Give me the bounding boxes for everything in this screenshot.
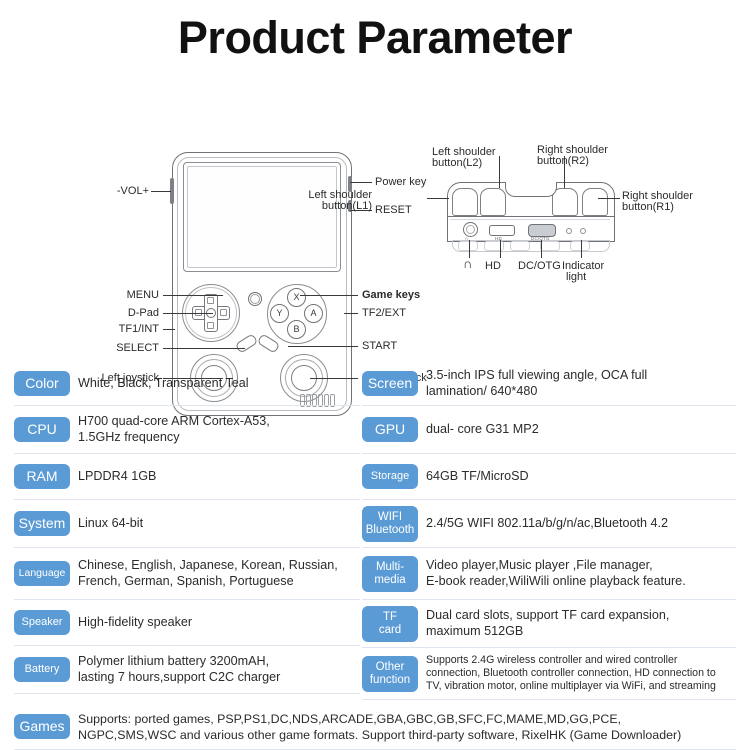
spec-label-badge: TFcard (362, 606, 418, 642)
spec-value: Supports 2.4G wireless controller and wi… (426, 654, 736, 694)
top-view-panel-line (450, 219, 610, 220)
shoulder-button-r1-shape (582, 188, 608, 216)
spec-row: BatteryPolymer lithium battery 3200mAH,l… (14, 646, 360, 694)
spec-row: Storage64GB TF/MicroSD (362, 454, 736, 500)
label-power-key: Power key (375, 176, 426, 189)
button-x: X (287, 288, 306, 307)
shoulder-button-l1-shape (452, 188, 478, 216)
spec-row: OtherfunctionSupports 2.4G wireless cont… (362, 648, 736, 700)
menu-button-inner (250, 294, 260, 304)
leader-game-keys (300, 295, 358, 296)
leader-hd (500, 240, 501, 258)
label-tf2-ext: TF2/EXT (362, 307, 406, 320)
leader-indicator (581, 240, 582, 258)
button-y: Y (270, 304, 289, 323)
label-indicator-light-line2: light (566, 271, 586, 284)
spec-label-badge: System (14, 511, 70, 536)
leader-l2 (499, 156, 500, 188)
leader-tf1 (163, 329, 175, 330)
spec-row: CPUH700 quad-core ARM Cortex-A53,1.5GHz … (14, 406, 360, 454)
spec-row: Multi-mediaVideo player,Music player ,Fi… (362, 548, 736, 600)
spec-row: ColorWhite, Black, Transparent Teal (14, 362, 360, 406)
product-parameter-page: Product Parameter X Y A B (0, 0, 750, 750)
spec-label-badge: WIFIBluetooth (362, 506, 418, 542)
spec-label-badge: Multi-media (362, 556, 418, 592)
label-menu: MENU (61, 289, 159, 302)
spec-label-badge: CPU (14, 417, 70, 442)
spec-row: GPUdual- core G31 MP2 (362, 406, 736, 454)
spec-row: TFcardDual card slots, support TF card e… (362, 600, 736, 648)
spec-value: Dual card slots, support TF card expansi… (426, 608, 736, 639)
leader-l1-top (427, 198, 449, 199)
spec-row: WIFIBluetooth2.4/5G WIFI 802.11a/b/g/n/a… (362, 500, 736, 548)
spec-value: Linux 64-bit (78, 516, 360, 532)
spec-label-badge: Otherfunction (362, 656, 418, 692)
leader-vol (151, 191, 171, 192)
leader-tf2 (344, 313, 358, 314)
spec-row-games: GamesSupports: ported games, PSP,PS1,DC,… (14, 704, 736, 750)
device-screen (187, 166, 337, 268)
label-vol: -VOL+ (51, 185, 149, 198)
spec-value: 64GB TF/MicroSD (426, 469, 736, 485)
product-diagram: X Y A B -VOL+ MENU D-Pad TF (0, 70, 750, 360)
button-a: A (304, 304, 323, 323)
leader-select (163, 348, 245, 349)
bottom-segment-3 (510, 241, 530, 251)
page-title: Product Parameter (0, 12, 750, 64)
spec-row: RAMLPDDR4 1GB (14, 454, 360, 500)
dpad-icon (192, 294, 228, 330)
label-left-shoulder-l2-line2: button(L2) (432, 157, 482, 170)
spec-value: H700 quad-core ARM Cortex-A53,1.5GHz fre… (78, 414, 360, 445)
label-dpad: D-Pad (61, 307, 159, 320)
spec-row: SystemLinux 64-bit (14, 500, 360, 548)
spec-value: Polymer lithium battery 3200mAH,lasting … (78, 654, 360, 685)
shoulder-button-l2-shape (480, 188, 506, 216)
label-port-hd: HD (485, 260, 501, 273)
spec-value: 3.5-inch IPS full viewing angle, OCA ful… (426, 368, 736, 399)
label-right-shoulder-r1-line2: button(R1) (622, 201, 674, 214)
spec-label-badge: Speaker (14, 610, 70, 635)
label-left-shoulder-l1-line2: button(L1) (286, 200, 372, 213)
top-view-center-notch (505, 182, 557, 197)
headphone-icon: ∩ (463, 258, 472, 271)
spec-label-badge: RAM (14, 464, 70, 489)
label-start: START (362, 340, 397, 353)
spec-label-badge: Screen (362, 371, 418, 396)
spec-value: High-fidelity speaker (78, 615, 360, 631)
label-right-shoulder-r2-line2: button(R2) (537, 155, 589, 168)
spec-column-left: ColorWhite, Black, Transparent TealCPUH7… (14, 362, 360, 694)
leader-dpad (163, 313, 213, 314)
bottom-segment-4 (540, 241, 560, 251)
leader-power (350, 182, 372, 183)
spec-label-badge: GPU (362, 417, 418, 442)
indicator-light-dot-1 (566, 228, 572, 234)
button-b: B (287, 320, 306, 339)
spec-row: Screen3.5-inch IPS full viewing angle, O… (362, 362, 736, 406)
indicator-light-dot-2 (580, 228, 586, 234)
spec-value: dual- core G31 MP2 (426, 422, 736, 438)
spec-value: Chinese, English, Japanese, Korean, Russ… (78, 558, 360, 589)
spec-value: White, Black, Transparent Teal (78, 376, 360, 392)
label-port-dc-otg: DC/OTG (518, 260, 561, 273)
spec-column-right: Screen3.5-inch IPS full viewing angle, O… (362, 362, 736, 700)
headphone-jack-inner (466, 225, 475, 234)
spec-label-badge: Color (14, 371, 70, 396)
leader-r1 (598, 198, 620, 199)
spec-value: LPDDR4 1GB (78, 469, 360, 485)
spec-label-badge: Storage (362, 464, 418, 489)
spec-value: Supports: ported games, PSP,PS1,DC,NDS,A… (78, 711, 736, 743)
spec-value: 2.4/5G WIFI 802.11a/b/g/n/ac,Bluetooth 4… (426, 516, 736, 532)
hd-port-shape (489, 225, 515, 236)
spec-row: SpeakerHigh-fidelity speaker (14, 600, 360, 646)
label-tf1-int: TF1/INT (61, 323, 159, 336)
label-game-keys: Game keys (362, 289, 420, 302)
spec-label-badge: Language (14, 561, 70, 586)
spec-label-badge: Battery (14, 657, 70, 682)
label-select: SELECT (61, 342, 159, 355)
bottom-segment-2 (484, 241, 504, 251)
spec-row: LanguageChinese, English, Japanese, Kore… (14, 548, 360, 600)
leader-menu (163, 295, 223, 296)
leader-dc-otg (541, 240, 542, 258)
leader-start (288, 346, 358, 347)
shoulder-button-r2-shape (552, 188, 578, 216)
bottom-segment-5 (570, 241, 590, 251)
label-reset: RESET (375, 204, 412, 217)
bottom-segment-1 (458, 241, 478, 251)
spec-label-badge: Games (14, 714, 70, 739)
spec-value: Video player,Music player ,File manager,… (426, 558, 736, 589)
